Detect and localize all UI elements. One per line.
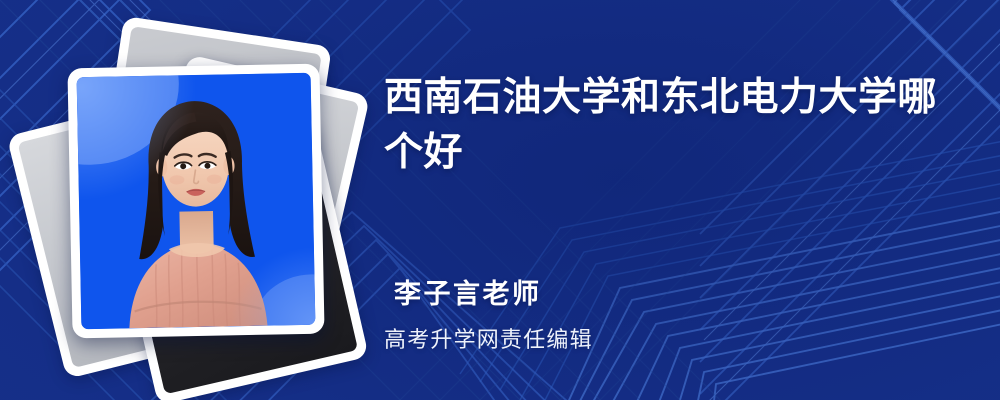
author-photo-card — [67, 64, 324, 339]
page-title: 西南石油大学和东北电力大学哪个好 — [384, 70, 944, 181]
author-name: 李子言老师 — [394, 272, 542, 311]
author-photo — [77, 73, 316, 329]
author-role: 高考升学网责任编辑 — [384, 322, 593, 354]
article-cover-banner: 西南石油大学和东北电力大学哪个好 李子言老师 高考升学网责任编辑 — [0, 0, 1000, 400]
cover-text-column: 西南石油大学和东北电力大学哪个好 李子言老师 高考升学网责任编辑 — [384, 0, 964, 400]
photo-light-wash — [77, 73, 316, 329]
photo-card-stack — [40, 18, 360, 388]
